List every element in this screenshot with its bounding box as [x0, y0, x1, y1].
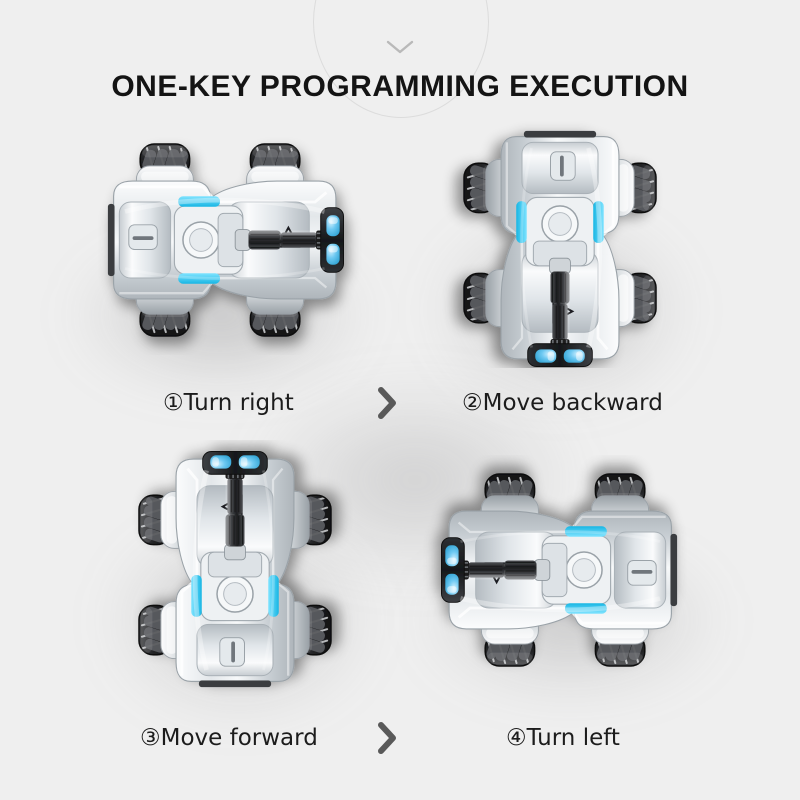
robot-car-step-2: [435, 118, 685, 368]
chevron-right-icon: [372, 383, 402, 427]
step-caption-1: ①Turn right: [163, 390, 294, 416]
robot-car-step-4: [420, 455, 710, 685]
step-caption-4: ④Turn left: [506, 725, 620, 751]
step-caption-3: ③Move forward: [140, 725, 318, 751]
chevron-right-icon: [372, 718, 402, 762]
robot-car-step-3: [105, 440, 365, 710]
page-title: ONE-KEY PROGRAMMING EXECUTION: [0, 70, 800, 104]
product-feature-panel: ONE-KEY PROGRAMMING EXECUTION: [0, 0, 800, 800]
step-caption-2: ②Move backward: [462, 390, 663, 416]
robot-car-step-1: [75, 125, 365, 355]
chevron-down-icon[interactable]: [385, 38, 415, 56]
